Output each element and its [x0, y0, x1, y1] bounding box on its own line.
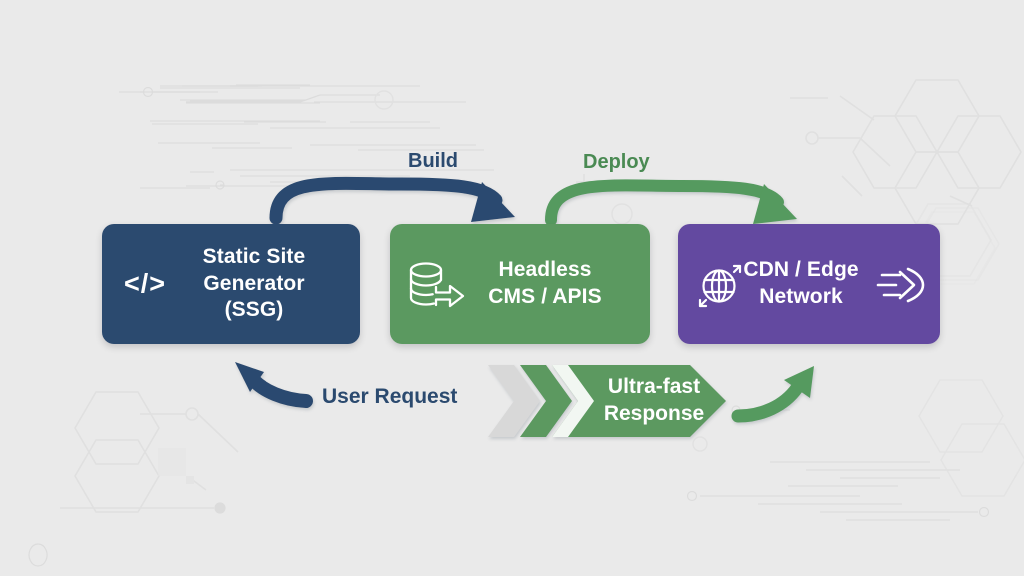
code-brackets-icon: </> — [124, 269, 166, 300]
edge-label-build: Build — [408, 150, 458, 173]
edge-label-user-request: User Request — [322, 385, 457, 409]
node-cdn-edge-network[interactable]: CDN / Edge Network — [678, 224, 940, 344]
speed-arrow-icon — [876, 264, 928, 308]
ultra-fast-response-label: Ultra-fast Response — [574, 373, 734, 428]
globe-icon — [694, 260, 746, 312]
response-return-arrow — [738, 366, 814, 416]
deploy-arrow — [551, 184, 797, 224]
diagram-canvas: </> Static Site Generator (SSG) Headless… — [0, 0, 1024, 576]
node-static-site-generator[interactable]: </> Static Site Generator (SSG) — [102, 224, 360, 344]
edge-label-deploy: Deploy — [583, 151, 650, 174]
node-headless-cms[interactable]: Headless CMS / APIS — [390, 224, 650, 344]
user-request-arrow — [235, 362, 306, 401]
database-arrow-icon — [404, 258, 470, 312]
node-cdn-label: CDN / Edge Network — [721, 257, 896, 311]
node-ssg-label: Static Site Generator (SSG) — [157, 244, 306, 325]
build-arrow — [276, 182, 515, 222]
